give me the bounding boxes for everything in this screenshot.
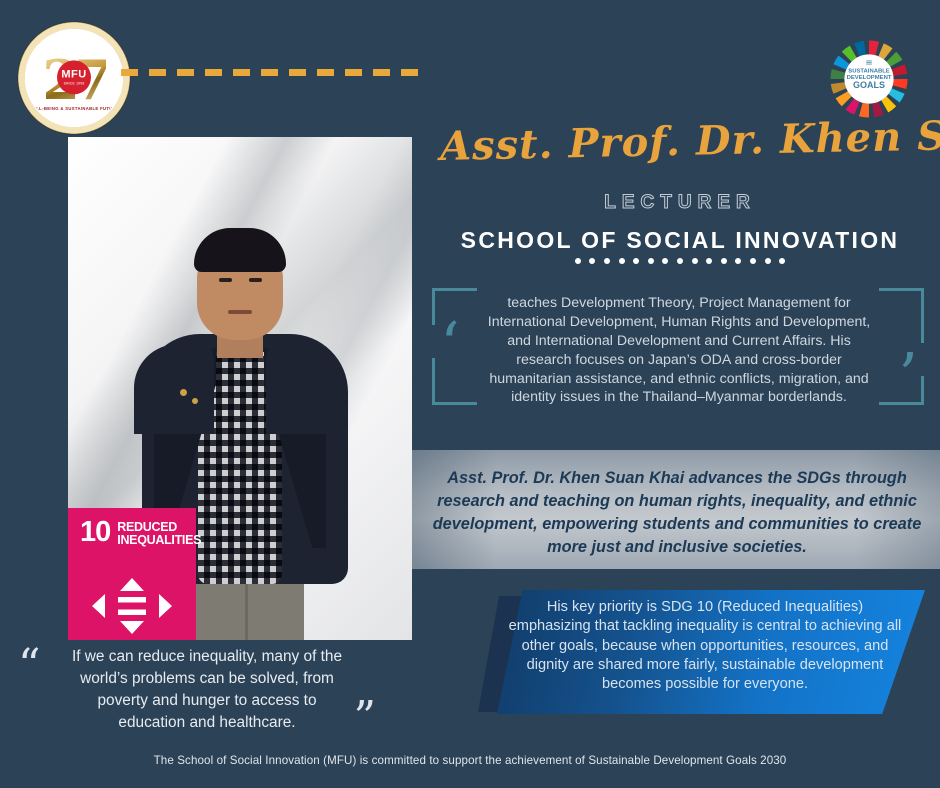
bracket-right-top <box>879 288 924 343</box>
divider-dot <box>706 258 712 264</box>
mouth <box>228 310 252 314</box>
divider-dot <box>589 258 595 264</box>
lapel-pin-icon <box>180 389 187 396</box>
dot-divider <box>420 258 940 264</box>
divider-dot <box>677 258 683 264</box>
divider-dot <box>735 258 741 264</box>
sdg-wheel-line1: SUSTAINABLE <box>848 68 890 74</box>
shoulder-left <box>134 344 214 434</box>
person-school: SCHOOL OF SOCIAL INNOVATION <box>420 227 940 254</box>
bio-quote-text: teaches Development Theory, Project Mana… <box>478 294 880 407</box>
divider-dot <box>779 258 785 264</box>
mfu-badge-label: MFU <box>61 69 86 80</box>
mfu-badge-sub: SINCE 1998 <box>64 81 85 85</box>
divider-dot <box>619 258 625 264</box>
sdg-10-title-line1: REDUCED <box>117 521 201 534</box>
person-role: LECTURER <box>440 192 920 214</box>
sdg-10-heading: 10 REDUCED INEQUALITIES <box>68 508 196 547</box>
sdg-10-title-line2: INEQUALITIES <box>117 534 201 547</box>
quote-close-icon: ’ <box>898 345 918 407</box>
bio-quote-block: ‘ ’ teaches Development Theory, Project … <box>432 288 924 405</box>
lapel-pin-secondary-icon <box>192 398 198 404</box>
divider-dot <box>721 258 727 264</box>
divider-dot <box>604 258 610 264</box>
person-name: Asst. Prof. Dr. Khen Suan Khai <box>440 113 921 170</box>
poster-canvas: 27 MFU SINCE 1998 WELL-BEING & SUSTAINAB… <box>0 0 940 788</box>
sdg-10-title: REDUCED INEQUALITIES <box>117 521 201 547</box>
sdg-10-badge: 10 REDUCED INEQUALITIES <box>68 508 196 640</box>
sdg-wheel-line3: GOALS <box>853 80 885 90</box>
mfu-badge-icon: MFU SINCE 1998 <box>57 60 91 94</box>
pull-quote-block: “ If we can reduce inequality, many of t… <box>18 640 390 734</box>
logo-inner-disc: 27 MFU SINCE 1998 WELL-BEING & SUSTAINAB… <box>26 30 122 126</box>
quote-open-icon: ‘ <box>440 314 460 376</box>
priority-banner-text: His key priority is SDG 10 (Reduced Ineq… <box>505 598 905 694</box>
sdg-statement-text: Asst. Prof. Dr. Khen Suan Khai advances … <box>424 467 930 560</box>
divider-dot <box>633 258 639 264</box>
pull-quote-open-icon: “ <box>18 644 41 688</box>
footer-text: The School of Social Innovation (MFU) is… <box>0 754 940 767</box>
divider-dot <box>662 258 668 264</box>
logo-tagline: WELL-BEING & SUSTAINABLE FUTURE <box>26 106 122 111</box>
divider-dot <box>765 258 771 264</box>
hair <box>194 228 286 272</box>
sdg-10-number: 10 <box>80 520 110 545</box>
pull-quote-text: If we can reduce inequality, many of the… <box>18 640 390 734</box>
mfu-anniversary-logo: 27 MFU SINCE 1998 WELL-BEING & SUSTAINAB… <box>18 22 130 134</box>
divider-dot <box>692 258 698 264</box>
sdg-wheel-logo: SUSTAINABLE DEVELOPMENT GOALS <box>828 38 910 120</box>
sdg-wheel-icon: SUSTAINABLE DEVELOPMENT GOALS <box>828 38 910 120</box>
divider-dot <box>750 258 756 264</box>
divider-dot <box>648 258 654 264</box>
reduced-inequalities-arrows-icon <box>92 578 172 634</box>
eye-left <box>219 278 232 282</box>
divider-dot <box>575 258 581 264</box>
pull-quote-close-icon: ” <box>354 696 377 740</box>
shoulder-right <box>266 344 346 434</box>
gold-dashed-divider <box>121 69 420 76</box>
eye-right <box>249 278 262 282</box>
